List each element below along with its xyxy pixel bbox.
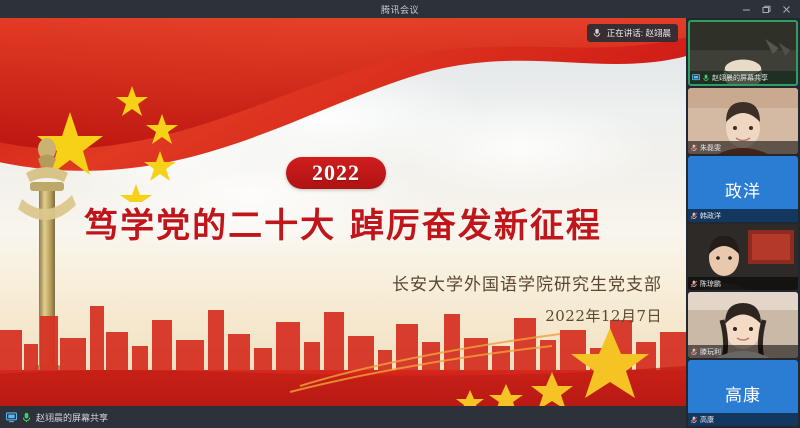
- participant-namebar-1: 朱磊雯: [688, 141, 798, 154]
- participant-namebar-5: 高康: [688, 413, 798, 426]
- participant-namebar-2: 韩政洋: [688, 209, 798, 222]
- city-skyline-graphic: [0, 286, 686, 406]
- participant-tile-4[interactable]: 滕玩利: [688, 292, 798, 358]
- participant-name-5: 高康: [700, 415, 714, 425]
- restore-icon[interactable]: [756, 0, 776, 18]
- minimize-icon[interactable]: [736, 0, 756, 18]
- participant-namebar-0: 赵翊晨的屏幕共享: [690, 71, 796, 84]
- microphone-muted-icon: [690, 416, 698, 424]
- participant-name-0: 赵翊晨的屏幕共享: [712, 73, 768, 83]
- microphone-icon: [21, 412, 32, 423]
- speaking-toast-label: 正在讲话: 赵翊晨: [607, 27, 671, 39]
- microphone-muted-icon: [690, 212, 698, 220]
- microphone-muted-icon: [690, 280, 698, 288]
- microphone-muted-icon: [690, 144, 698, 152]
- microphone-icon: [592, 28, 603, 39]
- slide-organization: 长安大学外国语学院研究生党支部: [392, 270, 662, 295]
- share-status-label: 赵翊晨的屏幕共享: [36, 411, 108, 424]
- tencent-meeting-window: 腾讯会议: [0, 0, 800, 428]
- microphone-icon: [702, 74, 710, 82]
- year-badge-label: 2022: [312, 160, 360, 186]
- window-title: 腾讯会议: [381, 3, 419, 16]
- microphone-muted-icon: [690, 348, 698, 356]
- participant-namebar-3: 陈琼鹏: [688, 277, 798, 290]
- avatar-initials-5: 高康: [725, 381, 761, 406]
- participant-name-2: 韩政洋: [700, 211, 721, 221]
- participant-tile-0[interactable]: 赵翊晨的屏幕共享: [688, 20, 798, 86]
- slide-date: 2022年12月7日: [545, 305, 662, 326]
- participant-name-1: 朱磊雯: [700, 143, 721, 153]
- speaking-toast: 正在讲话: 赵翊晨: [587, 24, 678, 42]
- participant-tile-2[interactable]: 政洋 韩政洋: [688, 156, 798, 222]
- year-badge: 2022: [286, 157, 386, 189]
- share-status-bar: 赵翊晨的屏幕共享: [0, 406, 686, 428]
- participant-rail[interactable]: 赵翊晨的屏幕共享: [686, 18, 800, 428]
- window-controls: [736, 0, 796, 18]
- participant-namebar-4: 滕玩利: [688, 345, 798, 358]
- slide-main-title: 笃学党的二十大 踔厉奋发新征程: [0, 198, 686, 247]
- avatar-initials-2: 政洋: [725, 177, 761, 202]
- title-bar: 腾讯会议: [0, 0, 800, 18]
- participant-name-3: 陈琼鹏: [700, 279, 721, 289]
- participant-name-4: 滕玩利: [700, 347, 721, 357]
- screen-share-icon: [6, 412, 17, 423]
- screen-share-icon: [692, 74, 700, 82]
- participant-tile-1[interactable]: 朱磊雯: [688, 88, 798, 154]
- close-icon[interactable]: [776, 0, 796, 18]
- shared-screen-stage[interactable]: 2022 笃学党的二十大 踔厉奋发新征程 长安大学外国语学院研究生党支部 202…: [0, 18, 686, 406]
- participant-tile-5[interactable]: 高康 高康: [688, 360, 798, 426]
- participant-tile-3[interactable]: 陈琼鹏: [688, 224, 798, 290]
